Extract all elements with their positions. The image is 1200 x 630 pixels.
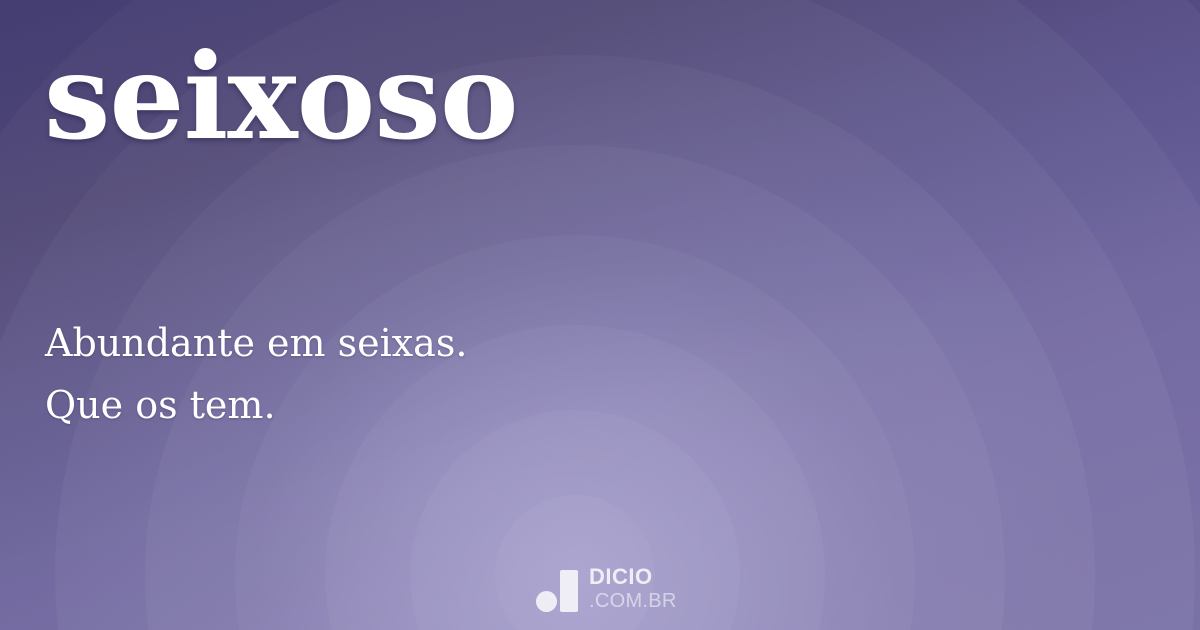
definition-list: Abundante em seixas. Que os tem.: [45, 312, 745, 436]
dicio-logo[interactable]: DICIO .COM.BR: [536, 566, 677, 612]
definition-line: Que os tem.: [45, 374, 745, 436]
circle-icon: [536, 591, 557, 612]
logo-wordmark: DICIO .COM.BR: [589, 566, 677, 612]
logo-tld: .COM.BR: [589, 591, 677, 611]
dicio-word-card: seixoso Abundante em seixas. Que os tem.…: [0, 0, 1200, 630]
rounded-bar-icon: [560, 570, 578, 612]
definition-line: Abundante em seixas.: [45, 312, 745, 374]
logo-mark: [536, 570, 578, 612]
logo-name: DICIO: [589, 566, 677, 588]
page-title: seixoso: [44, 34, 518, 159]
